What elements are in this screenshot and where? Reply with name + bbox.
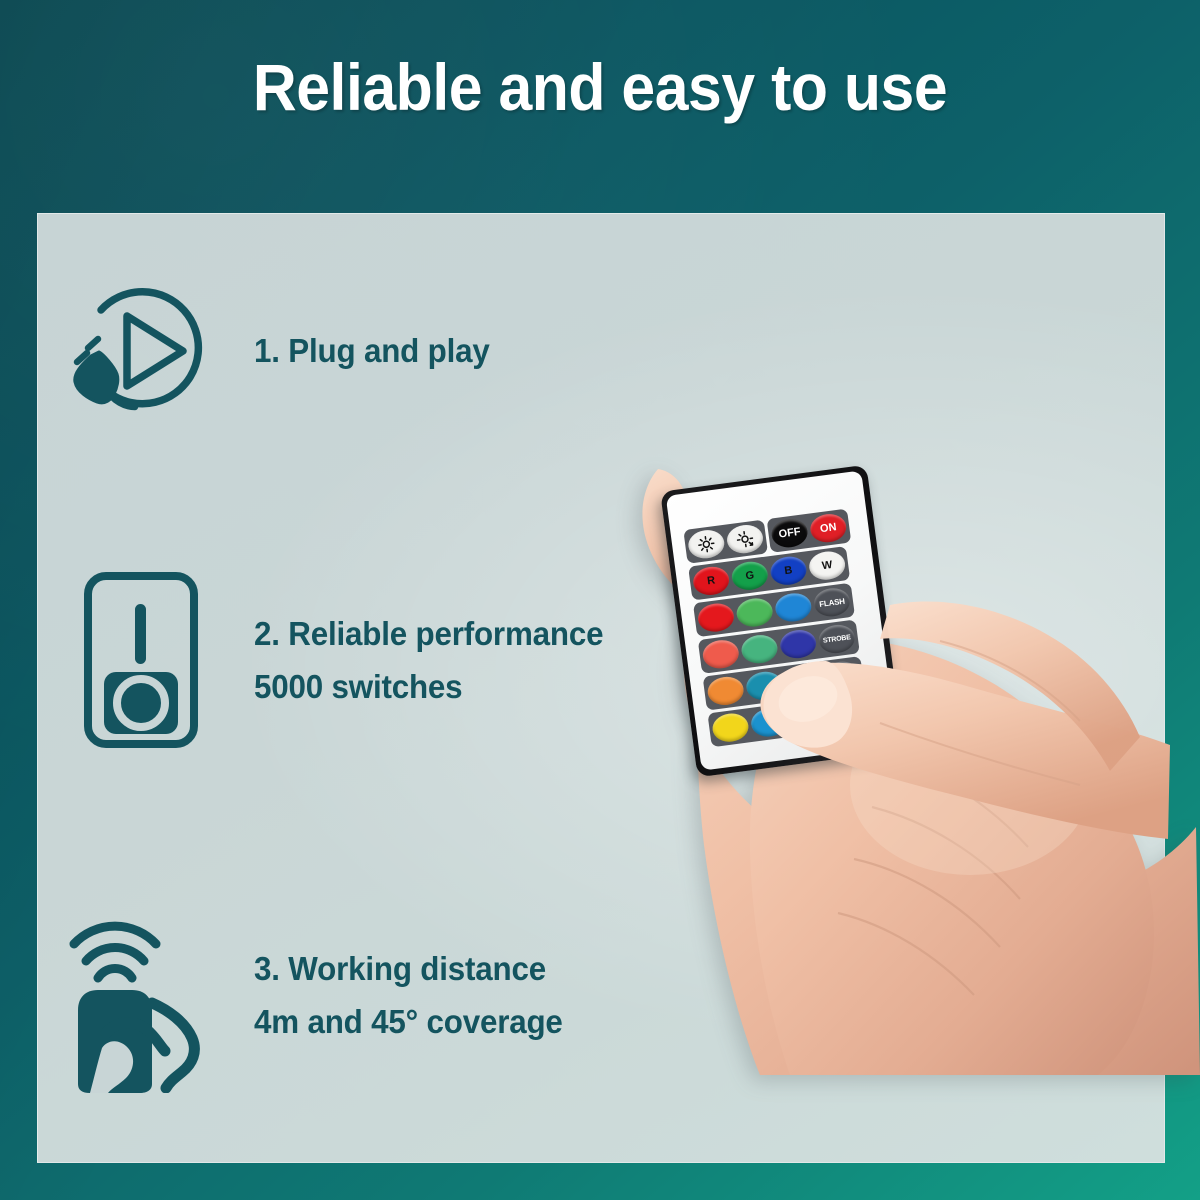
feature-3-icon-wrap — [56, 898, 226, 1093]
feature-3-line-2: 4m and 45° coverage — [254, 995, 563, 1048]
feature-item-working-distance: 3. Working distance 4m and 45° coverage — [56, 895, 579, 1095]
rocker-switch-icon — [76, 568, 206, 753]
page-title: Reliable and easy to use — [48, 54, 1152, 120]
feature-2-text: 2. Reliable performance 5000 switches — [254, 607, 603, 714]
feature-2-line-2: 5000 switches — [254, 660, 603, 713]
feature-1-icon-wrap — [56, 276, 226, 426]
infographic-poster: Reliable and easy to use 1. Plug and pla… — [0, 0, 1200, 1200]
feature-2-icon-wrap — [56, 568, 226, 753]
feature-3-text: 3. Working distance 4m and 45° coverage — [254, 942, 563, 1049]
feature-2-line-1: 2. Reliable performance — [254, 607, 603, 660]
plug-and-play-icon — [61, 276, 221, 426]
feature-3-line-1: 3. Working distance — [254, 942, 563, 995]
remote-signal-icon — [64, 898, 219, 1093]
feature-item-plug-and-play: 1. Plug and play — [56, 276, 502, 426]
feature-item-reliable-performance: 2. Reliable performance 5000 switches — [56, 560, 622, 760]
feature-1-line-1: 1. Plug and play — [254, 324, 490, 377]
feature-1-text: 1. Plug and play — [254, 324, 490, 377]
